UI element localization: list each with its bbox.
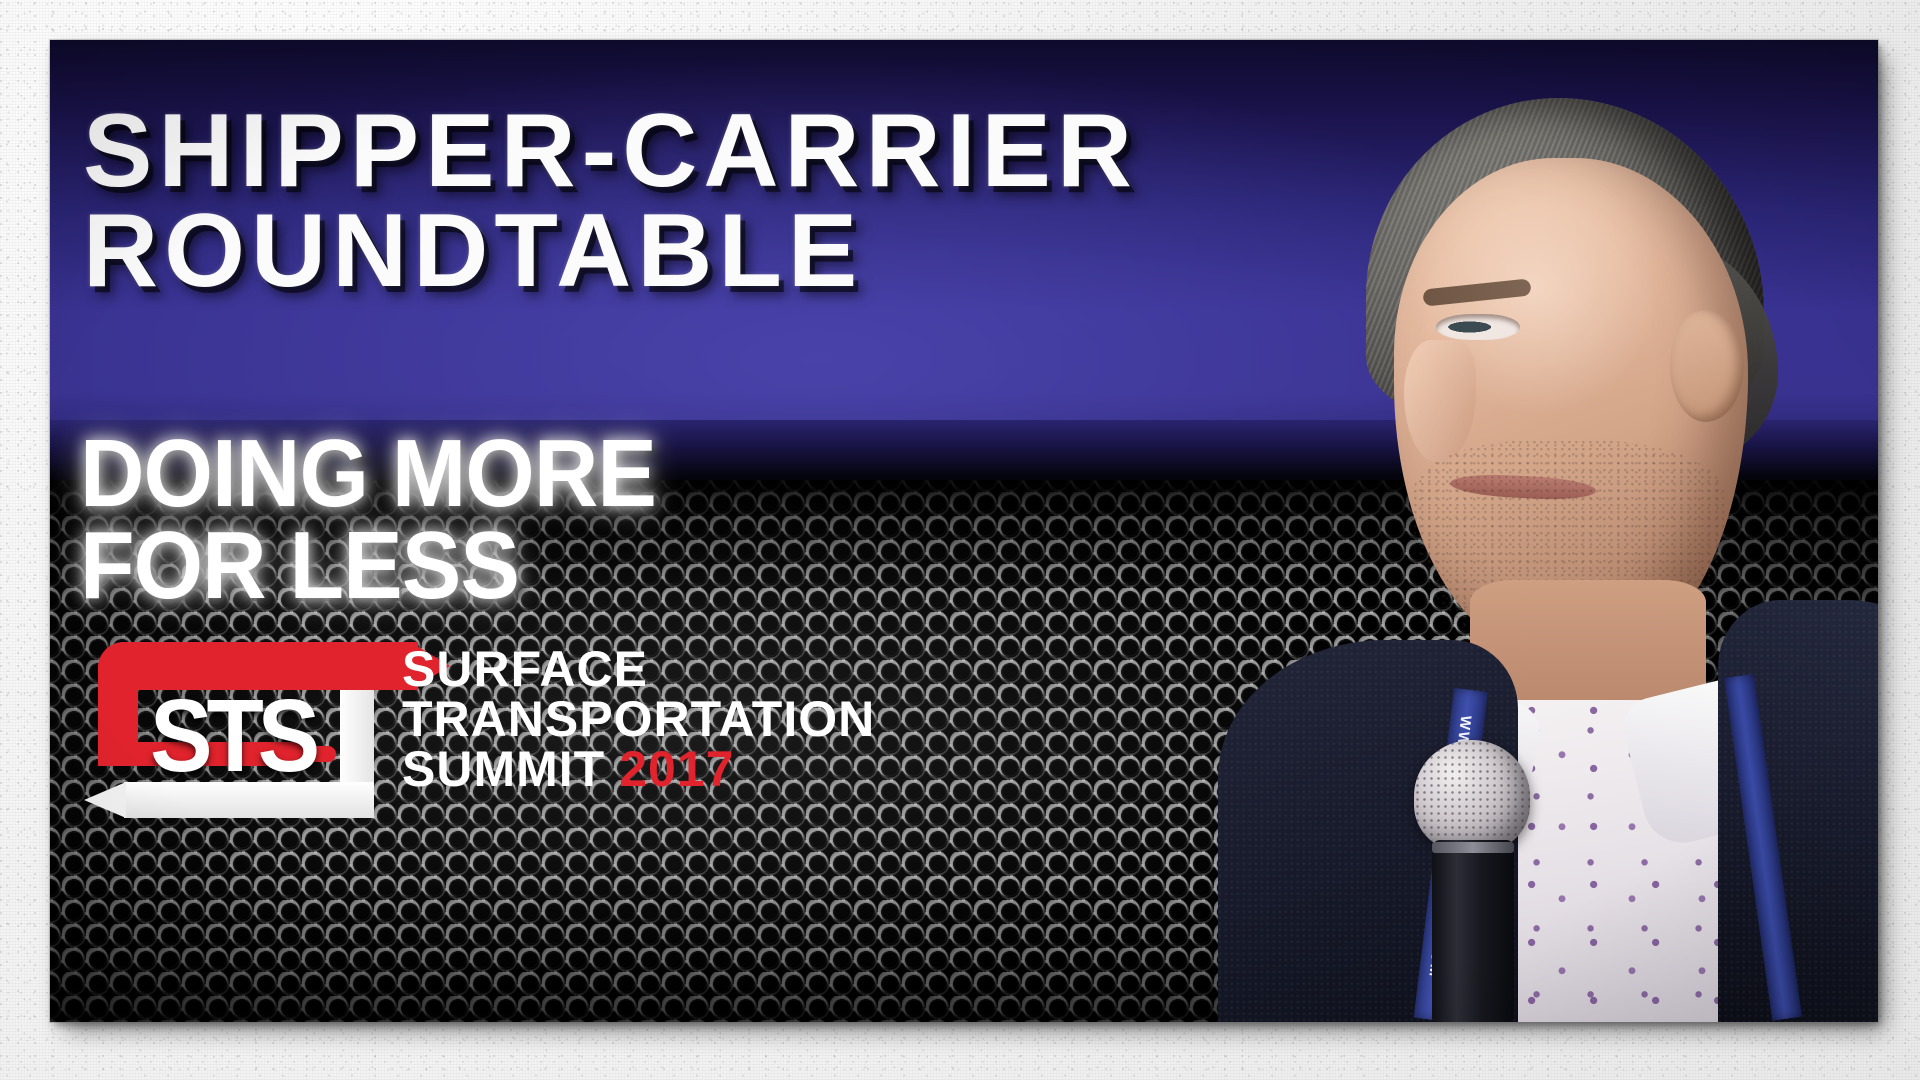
wordmark-line-1: SURFACE	[402, 644, 875, 694]
sts-wordmark: SURFACE TRANSPORTATION SUMMIT 2017	[402, 644, 875, 794]
poster-frame: SHIPPER-CARRIER ROUNDTABLE DOING MORE FO…	[0, 0, 1920, 1080]
subtitle: DOING MORE FOR LESS	[80, 428, 1010, 612]
headline-line-1: SHIPPER-CARRIER	[83, 102, 1263, 202]
wordmark-line-3: SUMMIT	[402, 744, 605, 794]
wordmark-year: 2017	[619, 744, 734, 794]
microphone-head-icon	[1414, 740, 1530, 852]
page-title: SHIPPER-CARRIER ROUNDTABLE	[83, 102, 1263, 302]
microphone-ring	[1432, 842, 1514, 853]
speaker-ear	[1670, 310, 1744, 422]
headline-line-2: ROUNDTABLE	[83, 202, 1263, 302]
microphone-body	[1432, 840, 1514, 1022]
microphone-grille	[1414, 740, 1530, 852]
subhead-line-1: DOING MORE	[80, 428, 1010, 520]
speaker-eye	[1436, 314, 1520, 340]
wordmark-line-2: TRANSPORTATION	[402, 694, 875, 744]
logo-white-bar	[124, 782, 374, 818]
logo-white-arrow-icon	[84, 782, 126, 818]
subhead-line-2: FOR LESS	[80, 520, 1010, 612]
poster-artwork: SHIPPER-CARRIER ROUNDTABLE DOING MORE FO…	[50, 40, 1878, 1022]
logo-letters: STS	[150, 686, 405, 787]
speaker-photo: WWW.CANADACARTAGE.COM	[1218, 40, 1878, 1022]
wordmark-line-3-row: SUMMIT 2017	[402, 744, 875, 794]
